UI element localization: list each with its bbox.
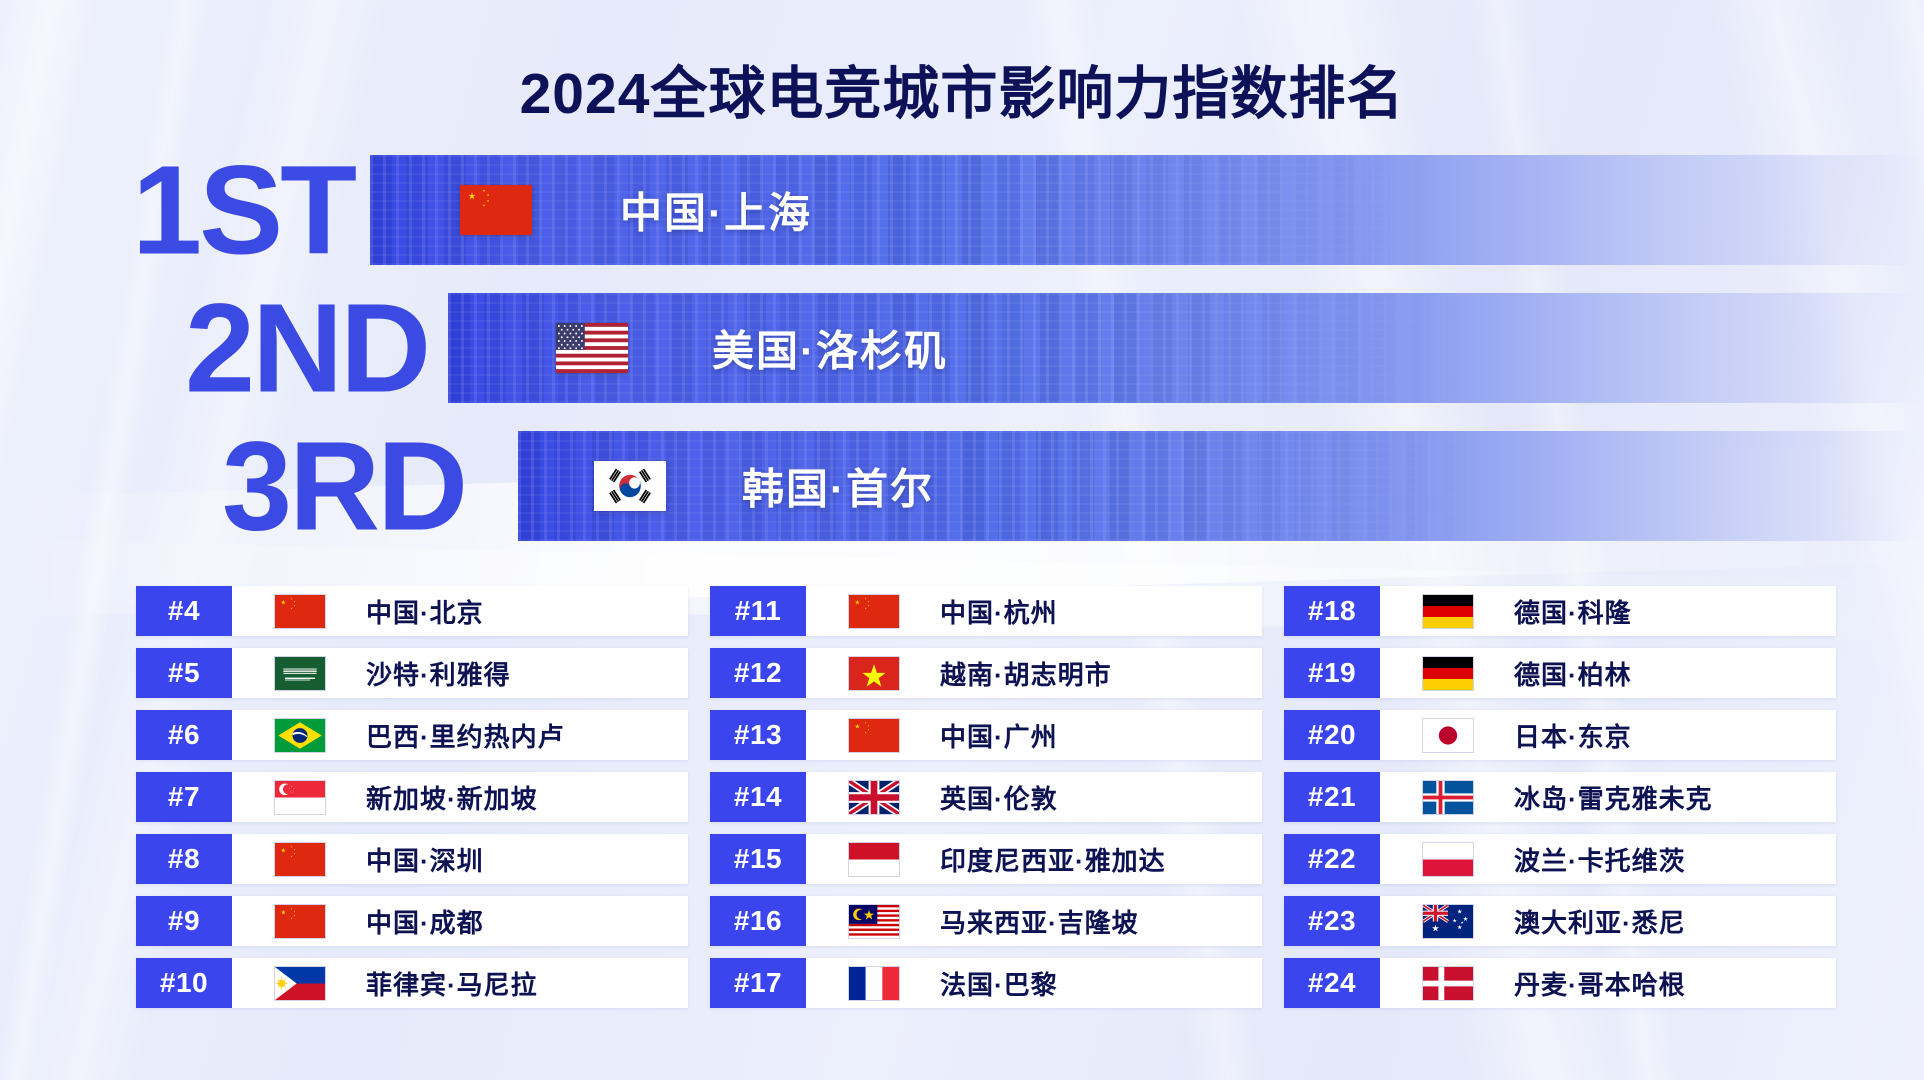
table-row[interactable]: #7 新加坡·新加坡	[136, 772, 688, 822]
rank-city-name: 中国·广州	[940, 717, 1058, 754]
rank-badge: #20	[1284, 710, 1380, 760]
united-kingdom-flag-icon	[848, 780, 900, 815]
city-skyline-texture	[448, 293, 1924, 403]
table-row[interactable]: #17 法国·巴黎	[710, 958, 1262, 1008]
china-flag-icon	[274, 594, 326, 629]
rank-city-name: 波兰·卡托维茨	[1514, 841, 1686, 878]
rank-city-name: 中国·成都	[366, 903, 484, 940]
rank-city-name: 沙特·利雅得	[366, 655, 511, 692]
rank-city-name: 澳大利亚·悉尼	[1514, 903, 1686, 940]
table-row[interactable]: #5 沙特·利雅得	[136, 648, 688, 698]
rank-badge: #9	[136, 896, 232, 946]
rank-city-name: 巴西·里约热内卢	[366, 717, 565, 754]
rank-badge: #11	[710, 586, 806, 636]
page-title: 2024全球电竞城市影响力指数排名	[0, 48, 1924, 130]
rank-city-name: 中国·杭州	[940, 593, 1058, 630]
germany-flag-icon	[1422, 594, 1474, 629]
rank-badge: #10	[136, 958, 232, 1008]
podium-row-1: 1ST 中国·上海	[0, 155, 1924, 265]
podium-city-name-1: 中国·上海	[620, 180, 812, 241]
podium-city-name-3: 韩国·首尔	[742, 456, 934, 517]
table-row[interactable]: #15 印度尼西亚·雅加达	[710, 834, 1262, 884]
singapore-flag-icon	[274, 780, 326, 815]
south-korea-flag-icon	[594, 461, 666, 511]
rank-city-name: 菲律宾·马尼拉	[366, 965, 538, 1002]
rank-badge: #7	[136, 772, 232, 822]
china-flag-icon	[274, 842, 326, 877]
table-row[interactable]: #11 中国·杭州	[710, 586, 1262, 636]
table-row[interactable]: #23 澳大利亚·悉尼	[1284, 896, 1836, 946]
ranking-list: #4 中国·北京#5 沙特·利雅得#6 巴西·里约热内卢#7	[136, 586, 1836, 1008]
saudi-arabia-flag-icon	[274, 656, 326, 691]
rank-badge: #23	[1284, 896, 1380, 946]
china-flag-icon	[460, 185, 532, 235]
rank-city-name: 日本·东京	[1514, 717, 1632, 754]
rank-column-1: #4 中国·北京#5 沙特·利雅得#6 巴西·里约热内卢#7	[136, 586, 688, 1008]
rank-city-name: 中国·北京	[366, 593, 484, 630]
podium-bar-3	[518, 431, 1924, 541]
rank-city-name: 法国·巴黎	[940, 965, 1058, 1002]
rank-badge: #21	[1284, 772, 1380, 822]
rank-badge: #12	[710, 648, 806, 698]
rank-badge: #15	[710, 834, 806, 884]
rank-column-2: #11 中国·杭州#12 越南·胡志明市#13 中国·广州#14 英国·伦敦#1…	[710, 586, 1262, 1008]
malaysia-flag-icon	[848, 904, 900, 939]
table-row[interactable]: #22 波兰·卡托维茨	[1284, 834, 1836, 884]
podium-bar-1	[370, 155, 1924, 265]
denmark-flag-icon	[1422, 966, 1474, 1001]
france-flag-icon	[848, 966, 900, 1001]
podium-row-3: 3RD 韩国·首尔	[0, 431, 1924, 541]
table-row[interactable]: #20 日本·东京	[1284, 710, 1836, 760]
table-row[interactable]: #19 德国·柏林	[1284, 648, 1836, 698]
rank-badge: #22	[1284, 834, 1380, 884]
iceland-flag-icon	[1422, 780, 1474, 815]
podium-rank-label-3: 3RD	[222, 434, 465, 537]
rank-badge: #4	[136, 586, 232, 636]
rank-city-name: 印度尼西亚·雅加达	[940, 841, 1166, 878]
table-row[interactable]: #12 越南·胡志明市	[710, 648, 1262, 698]
podium-rank-label-1: 1ST	[132, 158, 354, 261]
brazil-flag-icon	[274, 718, 326, 753]
philippines-flag-icon	[274, 966, 326, 1001]
rank-city-name: 德国·科隆	[1514, 593, 1632, 630]
podium-row-2: 2ND 美国·洛杉矶	[0, 293, 1924, 403]
podium-bar-2	[448, 293, 1924, 403]
rank-city-name: 新加坡·新加坡	[366, 779, 538, 816]
rank-badge: #17	[710, 958, 806, 1008]
rank-badge: #19	[1284, 648, 1380, 698]
australia-flag-icon	[1422, 904, 1474, 939]
podium-section: 1ST 中国·上海2ND 美国·洛杉矶3RD	[0, 155, 1924, 555]
indonesia-flag-icon	[848, 842, 900, 877]
rank-badge: #14	[710, 772, 806, 822]
table-row[interactable]: #6 巴西·里约热内卢	[136, 710, 688, 760]
table-row[interactable]: #14 英国·伦敦	[710, 772, 1262, 822]
rank-badge: #5	[136, 648, 232, 698]
table-row[interactable]: #21 冰岛·雷克雅未克	[1284, 772, 1836, 822]
rank-city-name: 德国·柏林	[1514, 655, 1632, 692]
table-row[interactable]: #13 中国·广州	[710, 710, 1262, 760]
china-flag-icon	[848, 594, 900, 629]
rank-city-name: 中国·深圳	[366, 841, 484, 878]
rank-badge: #8	[136, 834, 232, 884]
rank-city-name: 冰岛·雷克雅未克	[1514, 779, 1713, 816]
city-skyline-texture	[370, 155, 1924, 265]
vietnam-flag-icon	[848, 656, 900, 691]
table-row[interactable]: #4 中国·北京	[136, 586, 688, 636]
table-row[interactable]: #16 马来西亚·吉隆坡	[710, 896, 1262, 946]
rank-city-name: 马来西亚·吉隆坡	[940, 903, 1139, 940]
rank-column-3: #18 德国·科隆#19 德国·柏林#20 日本·东京#21 冰岛·雷克雅未克#…	[1284, 586, 1836, 1008]
table-row[interactable]: #8 中国·深圳	[136, 834, 688, 884]
china-flag-icon	[274, 904, 326, 939]
podium-rank-label-2: 2ND	[185, 296, 428, 399]
rank-city-name: 越南·胡志明市	[940, 655, 1112, 692]
rank-badge: #16	[710, 896, 806, 946]
japan-flag-icon	[1422, 718, 1474, 753]
table-row[interactable]: #9 中国·成都	[136, 896, 688, 946]
germany-flag-icon	[1422, 656, 1474, 691]
table-row[interactable]: #18 德国·科隆	[1284, 586, 1836, 636]
rank-badge: #24	[1284, 958, 1380, 1008]
rank-badge: #6	[136, 710, 232, 760]
city-skyline-texture	[518, 431, 1924, 541]
china-flag-icon	[848, 718, 900, 753]
poland-flag-icon	[1422, 842, 1474, 877]
rank-badge: #13	[710, 710, 806, 760]
rank-city-name: 英国·伦敦	[940, 779, 1058, 816]
table-row[interactable]: #24 丹麦·哥本哈根	[1284, 958, 1836, 1008]
usa-flag-icon	[556, 323, 628, 373]
rank-badge: #18	[1284, 586, 1380, 636]
podium-city-name-2: 美国·洛杉矶	[712, 318, 948, 379]
rank-city-name: 丹麦·哥本哈根	[1514, 965, 1686, 1002]
table-row[interactable]: #10 菲律宾·马尼拉	[136, 958, 688, 1008]
